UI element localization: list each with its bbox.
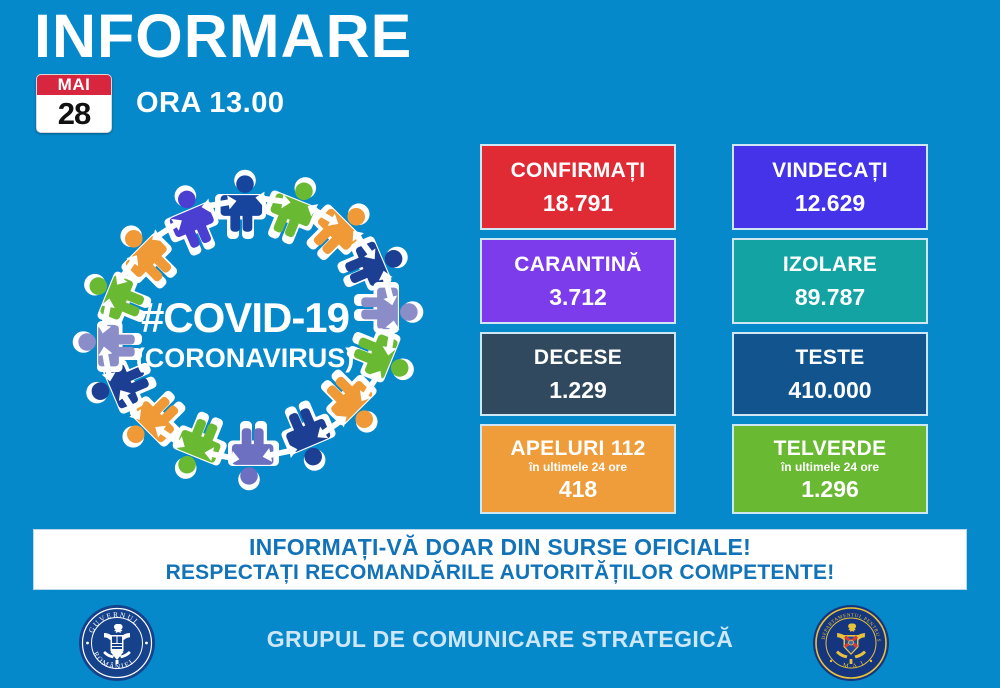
people-circle-icon: #COVID-19 (CORONAVIRUS) [35,160,455,515]
infographic-root: INFORMARE MAI 28 ORA 13.00 [0,0,1000,688]
dsu-mai-emblem: DEPARTAMENTUL PENTRU SITUAȚII DE URGENȚĂ… [812,604,890,682]
stat-card-apeluri-112: APELURI 112 în ultimele 24 ore 418 [480,424,676,514]
stat-value: 18.791 [543,192,613,215]
stats-row: APELURI 112 în ultimele 24 ore 418 TELVE… [480,424,928,514]
stats-row: CARANTINĂ 3.712 IZOLARE 89.787 [480,238,928,324]
stat-value: 1.229 [549,379,607,402]
stat-card-teste: TESTE 410.000 [732,332,928,416]
stats-row: CONFIRMAȚI 18.791 VINDECAȚI 12.629 [480,144,928,230]
stat-card-vindecati: VINDECAȚI 12.629 [732,144,928,230]
stat-card-izolare: IZOLARE 89.787 [732,238,928,324]
stat-sublabel: în ultimele 24 ore [781,461,879,474]
banner-line-2: RESPECTAȚI RECOMANDĂRILE AUTORITĂȚILOR C… [166,561,835,585]
stat-value: 12.629 [795,192,865,215]
stat-card-telverde: TELVERDE în ultimele 24 ore 1.296 [732,424,928,514]
stat-value: 3.712 [549,286,607,309]
stat-value: 418 [559,478,597,501]
stat-card-carantina: CARANTINĂ 3.712 [480,238,676,324]
stat-sublabel: în ultimele 24 ore [529,461,627,474]
stat-label: CARANTINĂ [514,253,642,276]
stat-label: TESTE [795,346,864,369]
calendar-day: 28 [37,95,111,132]
stats-grid: CONFIRMAȚI 18.791 VINDECAȚI 12.629 CARAN… [480,144,928,522]
stat-value: 89.787 [795,286,865,309]
stat-label: CONFIRMAȚI [511,159,646,182]
calendar-icon: MAI 28 [36,74,112,133]
banner-line-1: INFORMAȚI-VĂ DOAR DIN SURSE OFICIALE! [249,534,751,560]
stat-label: TELVERDE [774,437,887,460]
hour-label: ORA 13.00 [136,87,285,120]
official-sources-banner: INFORMAȚI-VĂ DOAR DIN SURSE OFICIALE! RE… [33,529,967,590]
stat-value: 410.000 [788,379,871,402]
stats-row: DECESE 1.229 TESTE 410.000 [480,332,928,416]
page-title: INFORMARE [34,4,412,68]
stat-card-decese: DECESE 1.229 [480,332,676,416]
date-bar: MAI 28 ORA 13.00 [36,74,285,133]
stat-card-confirmati: CONFIRMAȚI 18.791 [480,144,676,230]
stat-label: IZOLARE [783,253,877,276]
stat-value: 1.296 [801,478,859,501]
footer: GUVERNUL ROMÂNIEI [0,598,1000,688]
calendar-month: MAI [37,75,111,95]
stat-label: APELURI 112 [510,437,645,460]
stat-label: DECESE [534,346,622,369]
stat-label: VINDECAȚI [772,159,888,182]
